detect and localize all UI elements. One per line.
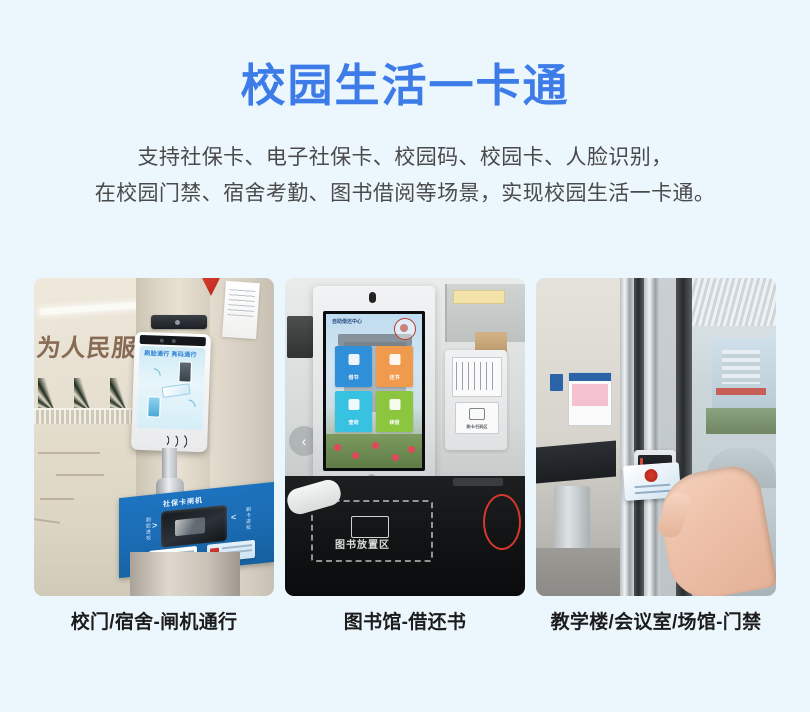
page-title: 校园生活一卡通 (0, 0, 810, 114)
return-icon (389, 354, 400, 365)
scenario-card-access[interactable]: 教学楼/会议室/场馆-门禁 (536, 278, 776, 636)
turnstile-arrow-left: > (152, 520, 157, 531)
school-seal-icon (394, 318, 416, 340)
turnstile-right-label: 刷卡进校 (241, 506, 251, 531)
promo-page: 校园生活一卡通 支持社保卡、电子社保卡、校园码、校园卡、人脸识别， 在校园门禁、… (0, 0, 810, 712)
kiosk-screen-header: 自助借还中心 (332, 319, 362, 326)
self-service-kiosk[interactable]: 自助借还中心 借书 还书 (313, 286, 435, 484)
turnstile-left-label: 刷脸进校 (141, 517, 151, 542)
door-mullion-1 (620, 278, 634, 596)
scenario-caption-access: 教学楼/会议室/场馆-门禁 (536, 610, 776, 636)
kiosk-screen[interactable]: 自助借还中心 借书 还书 (326, 314, 422, 468)
search-icon (348, 399, 359, 410)
terminal-screen: 刷脸通行 亮码通行 (137, 346, 206, 430)
door-mullion-2 (644, 278, 660, 596)
subtitle-line-1: 支持社保卡、电子社保卡、校园码、校园卡、人脸识别， (0, 140, 810, 176)
outdoor-building (722, 350, 760, 384)
door-frame-dark-1 (634, 278, 644, 596)
poster-header (569, 373, 611, 381)
kiosk-camera-icon (369, 292, 376, 303)
kiosk-tile-renew[interactable]: 续借 (376, 391, 413, 432)
scenario-caption-library: 图书馆-借还书 (285, 610, 525, 636)
screen-flowerbed-illustration (326, 434, 422, 468)
borrow-icon (348, 354, 359, 365)
kiosk-tile-label: 还书 (376, 374, 413, 381)
kiosk-tile-label: 查询 (335, 419, 372, 426)
terminal-camera-bar (140, 335, 206, 346)
photo-gate-turnstile: 为人民服务 (34, 278, 274, 596)
page-subtitle: 支持社保卡、电子社保卡、校园码、校园卡、人脸识别， 在校园门禁、宿舍考勤、图书借… (0, 114, 810, 212)
instruction-notice (452, 357, 502, 397)
book-icon (351, 516, 389, 538)
scenario-card-row: 为人民服务 (34, 278, 776, 636)
red-highlight-circle (483, 494, 521, 550)
scenario-caption-gate: 校门/宿舍-闸机通行 (34, 610, 274, 636)
poster-body (572, 384, 608, 406)
scenario-card-gate[interactable]: 为人民服务 (34, 278, 274, 636)
photo-library-scene: ‹ (285, 278, 525, 596)
kiosk-tile-search[interactable]: 查询 (335, 391, 372, 432)
wall-poster (568, 372, 612, 426)
kiosk-side-panel: 刷卡/扫码区 (445, 350, 507, 450)
photo-door-scene (536, 278, 776, 596)
hero-section: 校园生活一卡通 支持社保卡、电子社保卡、校园码、校园卡、人脸识别， 在校园门禁、… (0, 0, 810, 212)
national-emblem-icon (644, 469, 658, 483)
outdoor-awning (716, 388, 766, 395)
kiosk-tile-grid: 借书 还书 查询 (335, 346, 413, 432)
outdoor-greenery (706, 408, 776, 434)
scenario-card-library[interactable]: ‹ (285, 278, 525, 636)
desk-area-label: 图书放置区 (335, 536, 390, 551)
turnstile-base (130, 552, 240, 596)
wayfinding-sign-icon (550, 374, 563, 391)
kiosk-tile-borrow[interactable]: 借书 (335, 346, 372, 387)
face-camera-module (151, 315, 207, 329)
turnstile-scanner (161, 505, 227, 548)
photo-gate-scene: 为人民服务 (34, 278, 274, 596)
kiosk-tile-label: 借书 (335, 374, 372, 381)
kiosk-screen-bezel: 自助借还中心 借书 还书 (323, 311, 425, 471)
indoor-counter (536, 441, 616, 484)
face-recognition-terminal: 刷脸通行 亮码通行 (131, 332, 211, 453)
terminal-screen-title: 刷脸通行 亮码通行 (144, 351, 197, 360)
photo-library-kiosk: ‹ (285, 278, 525, 596)
receipt-slot (453, 478, 503, 486)
ceiling-slats (692, 278, 776, 326)
subtitle-line-2: 在校园门禁、宿舍考勤、图书借阅等场景，实现校园生活一卡通。 (0, 176, 810, 212)
nfc-icon (157, 433, 185, 448)
turnstile-arrow-right: < (231, 512, 236, 523)
card-scan-area[interactable]: 刷卡/扫码区 (455, 402, 499, 434)
photo-door-access (536, 278, 776, 596)
waiting-chair (554, 486, 590, 552)
kiosk-tile-return[interactable]: 还书 (376, 346, 413, 387)
background-equipment (287, 316, 313, 358)
card-scan-label: 刷卡/扫码区 (460, 424, 494, 430)
wall-notice-paper (222, 281, 260, 339)
renew-icon (389, 399, 400, 410)
kiosk-tile-label: 续借 (376, 419, 413, 426)
indoor-floor (536, 548, 620, 596)
